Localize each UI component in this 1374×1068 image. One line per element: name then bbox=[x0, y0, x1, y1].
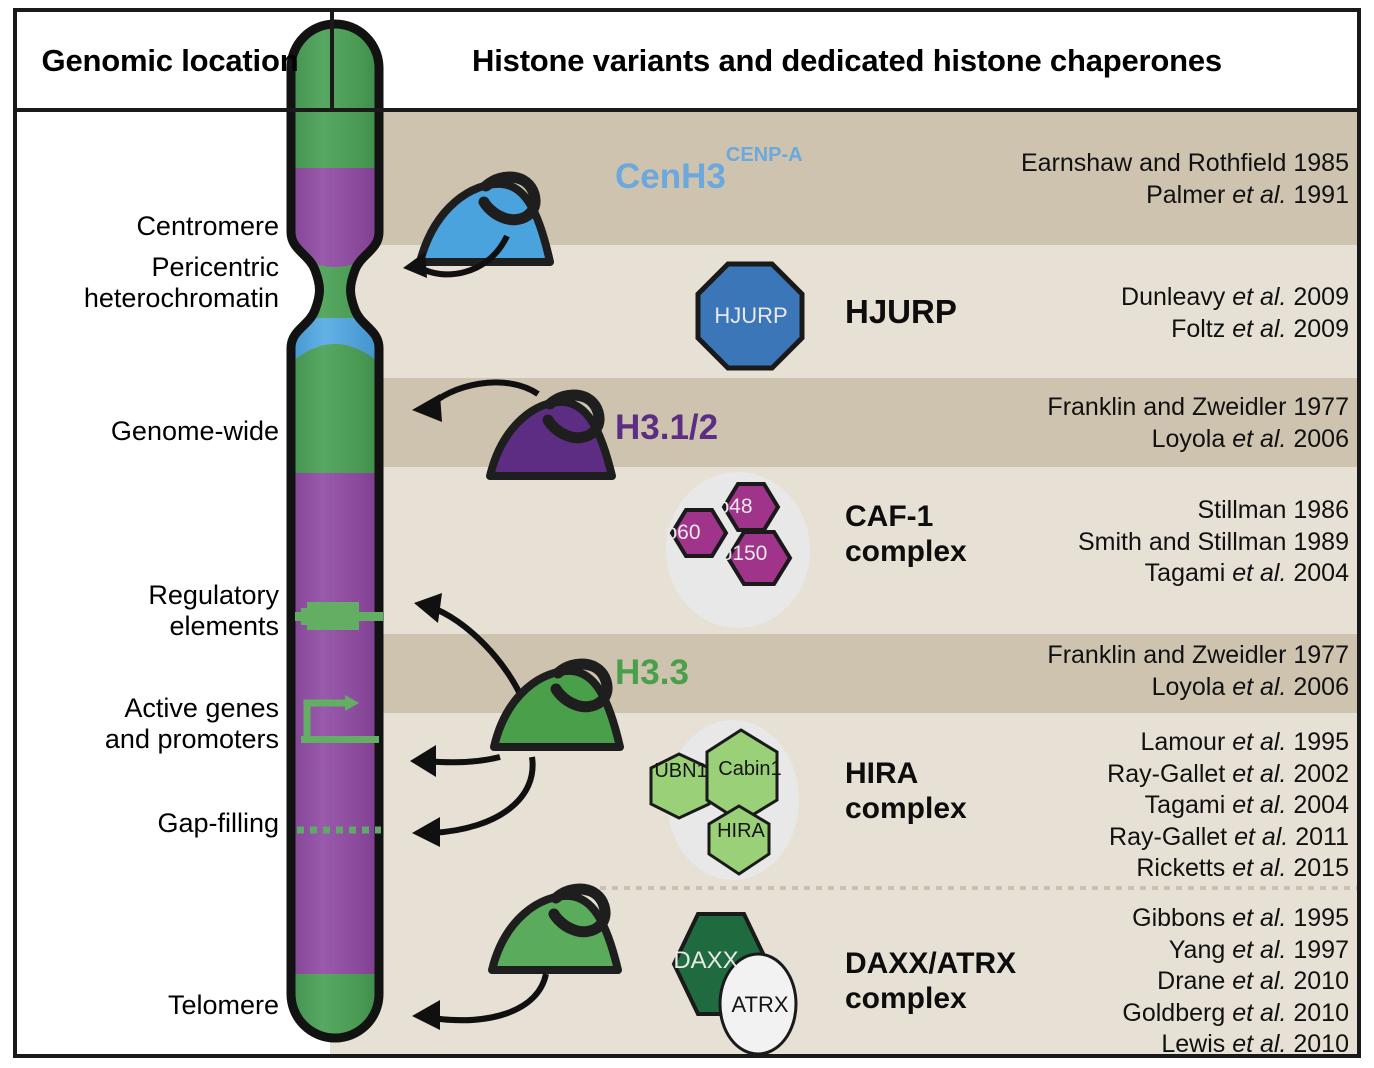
daxx-atrx-references: Gibbons et al. 1995 Yang et al. 1997 Dra… bbox=[1122, 903, 1349, 1061]
location-label-telomere: Telomere bbox=[168, 990, 279, 1021]
reference-item: Drane et al. 2010 bbox=[1122, 966, 1349, 998]
reference-item: Foltz et al. 2009 bbox=[1121, 314, 1349, 346]
location-label-gap-filling: Gap-filling bbox=[157, 808, 279, 839]
chrom-band-purple-2 bbox=[283, 473, 387, 974]
cenh3-references: Earnshaw and Rothfield 1985 Palmer et al… bbox=[1021, 148, 1349, 211]
h3-3-arrow-active-genes bbox=[426, 757, 500, 762]
reference-item: Loyola et al. 2006 bbox=[1047, 424, 1349, 456]
reference-item: Ricketts et al. 2015 bbox=[1107, 853, 1349, 885]
cenh3-variant-superscript: CENP-A bbox=[726, 144, 803, 166]
reference-item: Lewis et al. 2010 bbox=[1122, 1029, 1349, 1061]
reference-item: Lamour et al. 1995 bbox=[1107, 727, 1349, 759]
daxx-atrx-complex-icon bbox=[648, 908, 838, 1058]
caf1-subunit-p48 bbox=[724, 484, 778, 530]
location-label-active-genes: Active genes and promoters bbox=[105, 693, 279, 756]
hjurp-references: Dunleavy et al. 2009 Foltz et al. 2009 bbox=[1121, 282, 1349, 345]
location-label-centromere: Centromere bbox=[136, 211, 279, 242]
h3-1-2-variant-label: H3.1/2 bbox=[615, 408, 718, 448]
location-label-regulatory: Regulatory elements bbox=[148, 580, 279, 643]
header-divider bbox=[13, 108, 1361, 112]
hira-complex-icon bbox=[635, 718, 835, 878]
reference-item: Smith and Stillman 1989 bbox=[1078, 527, 1349, 559]
header-column-divider bbox=[330, 8, 334, 112]
header-left: Genomic location bbox=[20, 16, 320, 106]
header-right: Histone variants and dedicated histone c… bbox=[340, 16, 1354, 106]
caf1-references: Stillman 1986 Smith and Stillman 1989 Ta… bbox=[1078, 495, 1349, 590]
hira-subunit-ubn1 bbox=[651, 754, 709, 818]
location-label-pericentric: Pericentric heterochromatin bbox=[84, 252, 279, 315]
histone-variants-figure: Genomic location Histone variants and de… bbox=[0, 0, 1374, 1068]
histone-variants-title: Histone variants and dedicated histone c… bbox=[472, 43, 1222, 80]
reference-item: Palmer et al. 1991 bbox=[1021, 180, 1349, 212]
reference-item: Loyola et al. 2006 bbox=[1047, 672, 1349, 704]
cenh3-arrow-to-centromere bbox=[395, 228, 515, 288]
caf1-subunit-p150 bbox=[728, 532, 790, 584]
h3-3-arrow-regulatory bbox=[430, 607, 524, 703]
h3-1-2-references: Franklin and Zweidler 1977 Loyola et al.… bbox=[1047, 392, 1349, 455]
reference-item: Ray-Gallet et al. 2002 bbox=[1107, 759, 1349, 791]
hira-references: Lamour et al. 1995 Ray-Gallet et al. 200… bbox=[1107, 727, 1349, 885]
cenh3-variant-label: CenH3CENP-A bbox=[615, 157, 803, 197]
chrom-band-green-2b bbox=[283, 344, 387, 473]
reference-item: Franklin and Zweidler 1977 bbox=[1047, 392, 1349, 424]
daxx-arrow-telomere bbox=[432, 974, 546, 1020]
reference-item: Stillman 1986 bbox=[1078, 495, 1349, 527]
h3-3-histone-icon bbox=[396, 585, 646, 855]
daxx-atrx-chaperone-label: DAXX/ATRX complex bbox=[845, 947, 1016, 1016]
h3-3-variant-label: H3.3 bbox=[615, 653, 689, 693]
caf1-complex-icon bbox=[640, 470, 840, 630]
hira-daxx-separator bbox=[600, 886, 1360, 890]
promoter-baseline bbox=[301, 736, 379, 743]
h3-1-2-histone-icon bbox=[398, 378, 628, 488]
reference-item: Tagami et al. 2004 bbox=[1078, 558, 1349, 590]
hira-chaperone-label: HIRA complex bbox=[845, 757, 967, 826]
hjurp-node-icon bbox=[695, 261, 805, 371]
h3-3-arrow-gap-filling bbox=[432, 757, 533, 833]
reference-item: Earnshaw and Rothfield 1985 bbox=[1021, 148, 1349, 180]
caf1-chaperone-label: CAF-1 complex bbox=[845, 500, 967, 569]
reference-item: Ray-Gallet et al. 2011 bbox=[1107, 822, 1349, 854]
chromosome-ideogram bbox=[283, 18, 387, 1044]
genomic-location-title: Genomic location bbox=[42, 43, 299, 80]
reference-item: Yang et al. 1997 bbox=[1122, 935, 1349, 967]
hjurp-chaperone-label: HJURP bbox=[845, 293, 957, 331]
daxx-atrx-histone-icon bbox=[396, 900, 646, 1050]
reference-item: Dunleavy et al. 2009 bbox=[1121, 282, 1349, 314]
reference-item: Tagami et al. 2004 bbox=[1107, 790, 1349, 822]
reference-item: Franklin and Zweidler 1977 bbox=[1047, 640, 1349, 672]
caf1-subunit-p60 bbox=[672, 510, 726, 556]
cenh3-variant-text: CenH3 bbox=[615, 157, 726, 196]
atrx-subunit bbox=[720, 954, 796, 1054]
location-label-genome-wide: Genome-wide bbox=[111, 416, 279, 447]
reference-item: Gibbons et al. 1995 bbox=[1122, 903, 1349, 935]
reference-item: Goldberg et al. 2010 bbox=[1122, 998, 1349, 1030]
h3-3-references: Franklin and Zweidler 1977 Loyola et al.… bbox=[1047, 640, 1349, 703]
